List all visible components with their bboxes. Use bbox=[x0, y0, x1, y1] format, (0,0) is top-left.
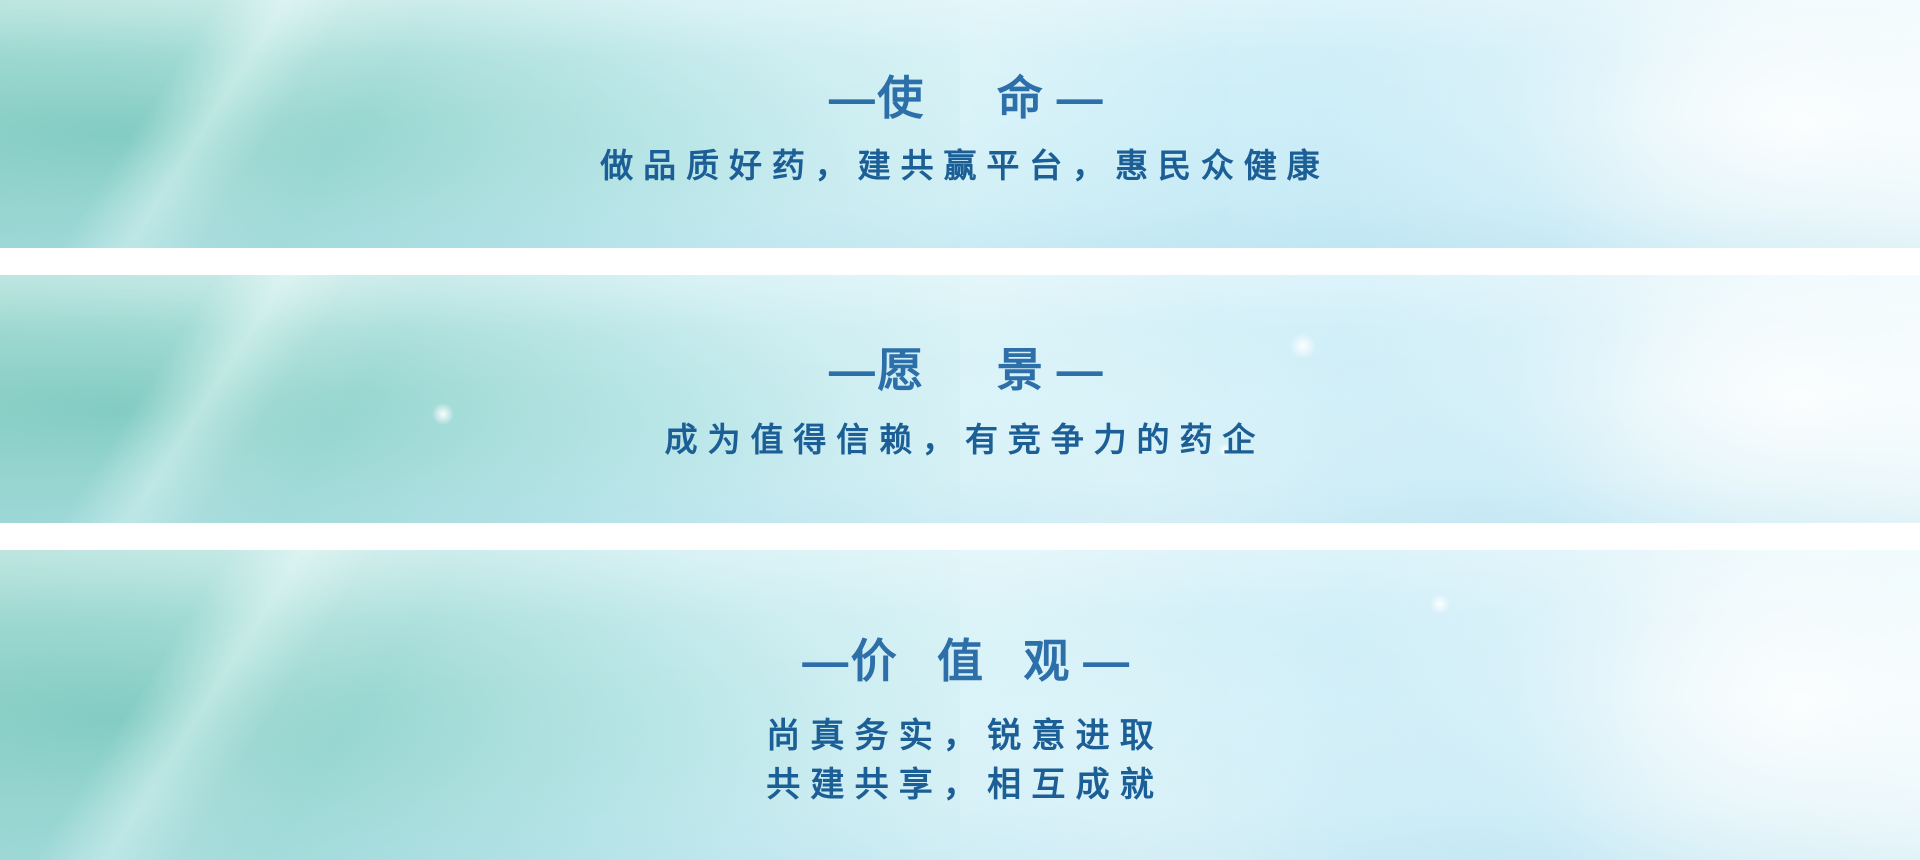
panel-values-content: —价 值 观— 尚真务实，锐意进取 共建共享，相互成就 bbox=[0, 550, 1920, 860]
culture-poster: —使 命— 做品质好药，建共赢平台，惠民众健康 —愿 景— 成为值得信赖，有竞争… bbox=[0, 0, 1920, 860]
heading-rule-left: — bbox=[829, 72, 877, 124]
panel-vision: —愿 景— 成为值得信赖，有竞争力的药企 bbox=[0, 275, 1920, 523]
panel-mission-heading: —使 命— bbox=[815, 70, 1105, 128]
panel-vision-heading: —愿 景— bbox=[815, 342, 1105, 400]
panel-mission-line-1: 做品质好药，建共赢平台，惠民众健康 bbox=[590, 143, 1329, 190]
panel-divider-2 bbox=[0, 523, 1920, 550]
panel-mission-content: —使 命— 做品质好药，建共赢平台，惠民众健康 bbox=[0, 0, 1920, 248]
heading-text: 价 值 观 bbox=[851, 635, 1084, 687]
heading-rule-right: — bbox=[1057, 344, 1105, 396]
panel-vision-line-1: 成为值得信赖，有竞争力的药企 bbox=[655, 417, 1266, 464]
heading-rule-right: — bbox=[1057, 72, 1105, 124]
panel-mission: —使 命— 做品质好药，建共赢平台，惠民众健康 bbox=[0, 0, 1920, 248]
panel-values-line-1: 尚真务实，锐意进取 bbox=[756, 712, 1164, 760]
panel-values-heading: —价 值 观— bbox=[789, 633, 1132, 691]
panel-divider-1 bbox=[0, 248, 1920, 275]
panel-vision-content: —愿 景— 成为值得信赖，有竞争力的药企 bbox=[0, 275, 1920, 523]
panel-values-line-2: 共建共享，相互成就 bbox=[756, 761, 1164, 809]
heading-rule-right: — bbox=[1083, 635, 1131, 687]
heading-rule-left: — bbox=[802, 635, 850, 687]
heading-rule-left: — bbox=[829, 344, 877, 396]
panel-values: —价 值 观— 尚真务实，锐意进取 共建共享，相互成就 bbox=[0, 550, 1920, 860]
heading-text: 愿 景 bbox=[877, 344, 1056, 396]
heading-text: 使 命 bbox=[877, 72, 1056, 124]
